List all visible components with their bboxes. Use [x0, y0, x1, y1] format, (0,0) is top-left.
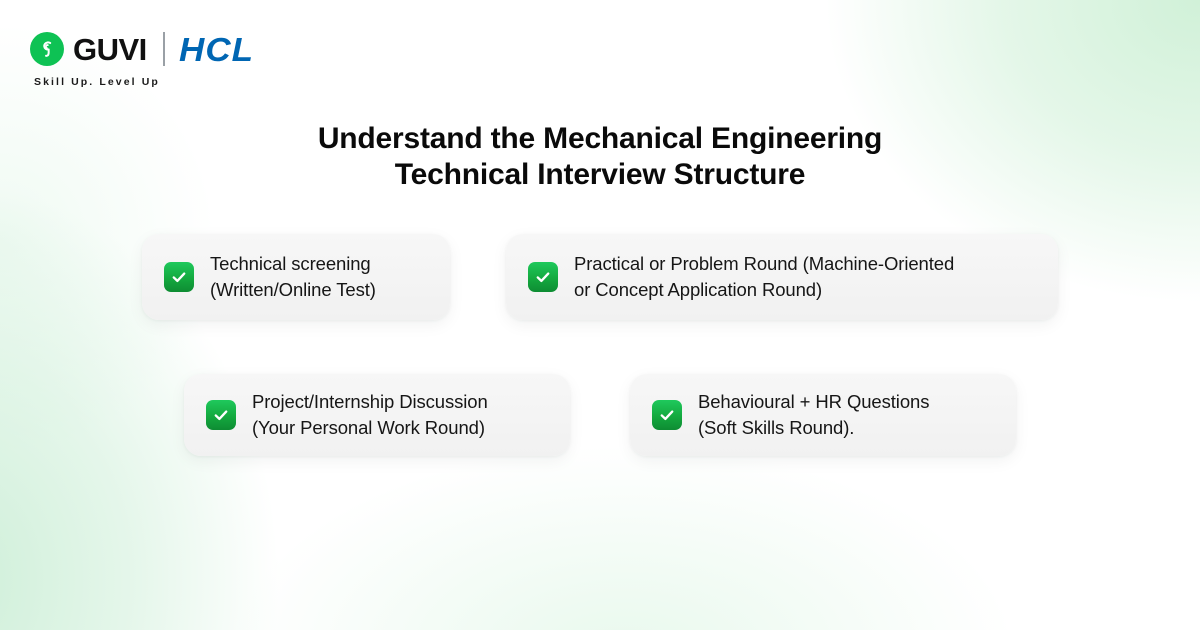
poster-canvas: GUVI HCL Skill Up. Level Up Understand t… — [0, 0, 1200, 630]
round-card-label: Practical or Problem Round (Machine-Orie… — [574, 251, 954, 302]
check-square-icon — [164, 262, 194, 292]
hcl-wordmark: HCL — [179, 33, 254, 66]
guvi-wordmark: GUVI — [73, 34, 147, 65]
page-title-line-2: Technical Interview Structure — [0, 157, 1200, 193]
check-square-icon — [528, 262, 558, 292]
round-card-behavioural-hr: Behavioural + HR Questions (Soft Skills … — [630, 374, 1016, 456]
brand-logos-row: GUVI HCL — [30, 28, 250, 70]
round-card-technical-screening: Technical screening (Written/Online Test… — [142, 234, 450, 320]
round-card-project-internship: Project/Internship Discussion (Your Pers… — [184, 374, 570, 456]
check-square-icon — [206, 400, 236, 430]
brand-divider — [163, 32, 165, 66]
page-title: Understand the Mechanical Engineering Te… — [0, 121, 1200, 193]
page-title-line-1: Understand the Mechanical Engineering — [0, 121, 1200, 157]
check-square-icon — [652, 400, 682, 430]
guvi-spiral-mark-icon — [30, 32, 64, 66]
round-card-label: Project/Internship Discussion (Your Pers… — [252, 389, 488, 440]
brand-header: GUVI HCL Skill Up. Level Up — [30, 28, 250, 88]
round-card-label: Technical screening (Written/Online Test… — [210, 251, 376, 302]
round-card-practical-problem: Practical or Problem Round (Machine-Orie… — [506, 234, 1058, 320]
round-card-label: Behavioural + HR Questions (Soft Skills … — [698, 389, 929, 440]
brand-tagline: Skill Up. Level Up — [34, 76, 160, 88]
